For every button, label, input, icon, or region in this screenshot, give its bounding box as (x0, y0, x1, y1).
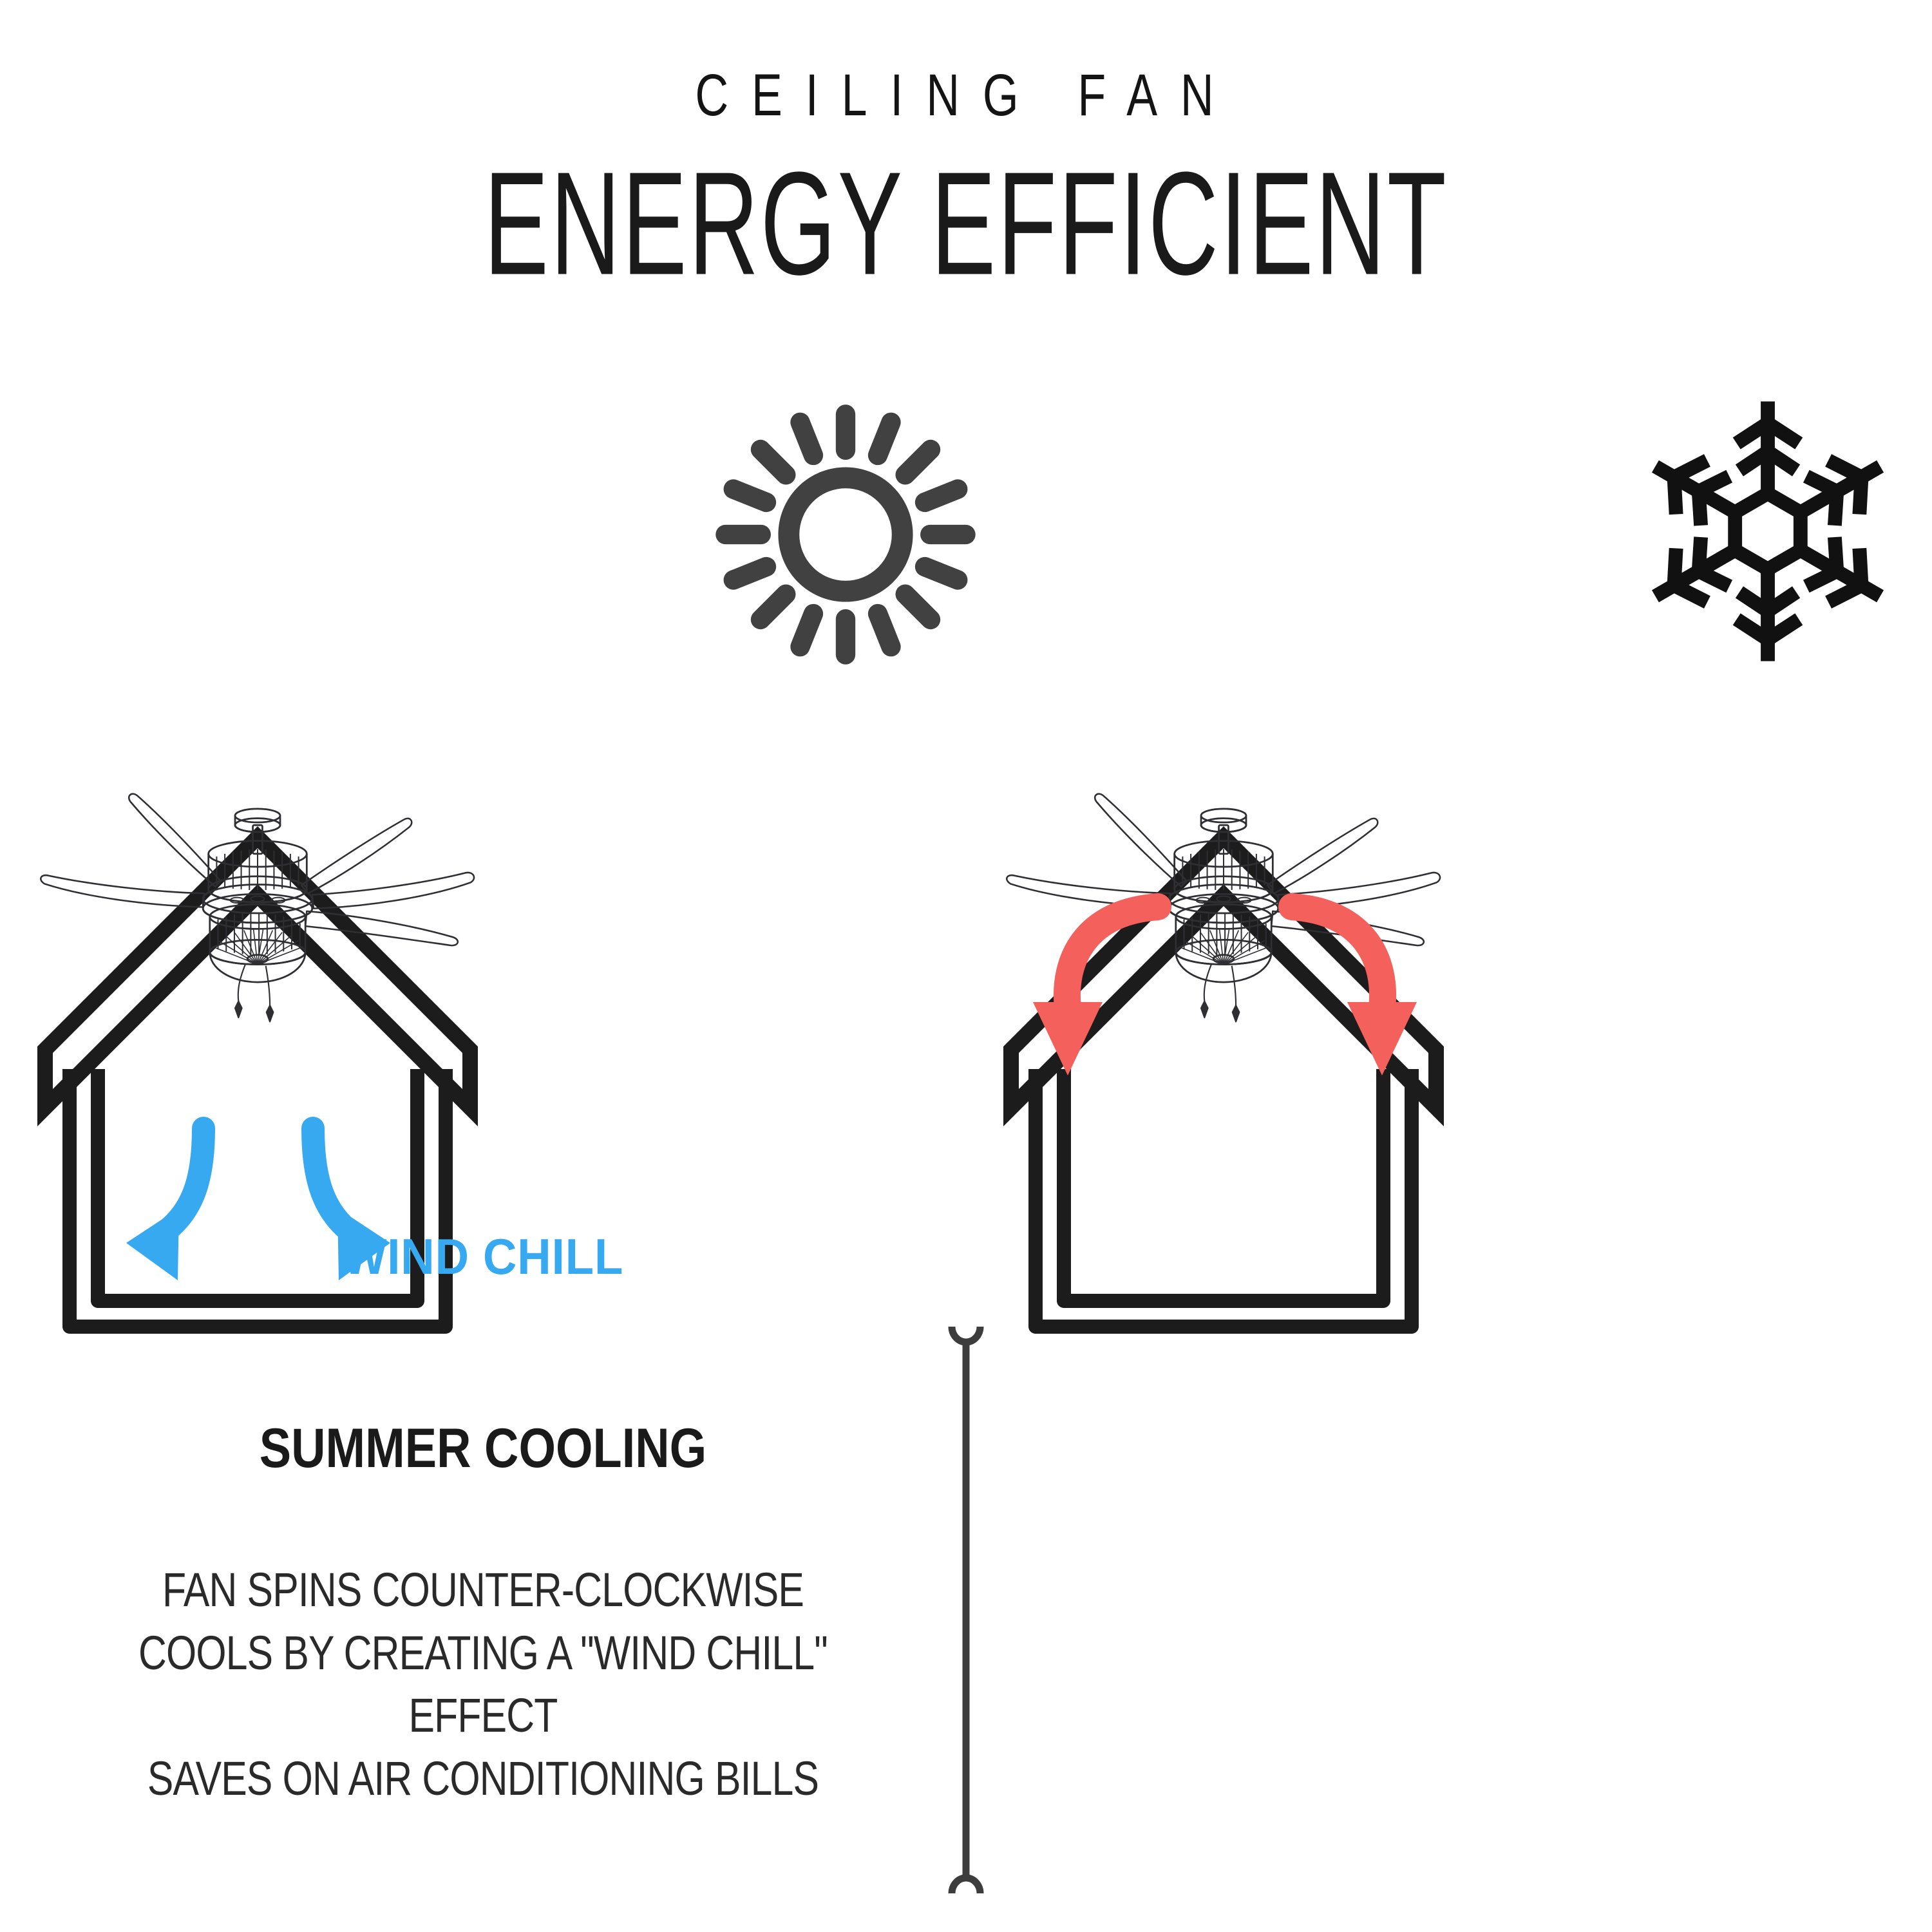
panel-winter-heating: RECIRCULATES HEAT FORCING AIR DOWN WINTE… (966, 0, 1932, 1932)
house-caption-wind-chill: WIND CHILL (34, 1227, 933, 1286)
section-heading-summer: SUMMER COOLING (68, 1417, 898, 1481)
wall-outline (70, 1069, 446, 1327)
wall-outline (1036, 1069, 1412, 1327)
vertical-separator (934, 1320, 998, 1900)
panel-summer-cooling: WIND CHILL SUMMER COOLING FAN SPINS COUN… (0, 0, 966, 1932)
body-copy-summer: FAN SPINS COUNTER-CLOCKWISE COOLS BY CRE… (87, 1558, 879, 1810)
airflow-arrows-cool (162, 1128, 353, 1234)
infographic-canvas: CEILING FAN ENERGY EFFICIENT (0, 0, 1932, 1932)
house-diagram-winter (966, 599, 1932, 1359)
